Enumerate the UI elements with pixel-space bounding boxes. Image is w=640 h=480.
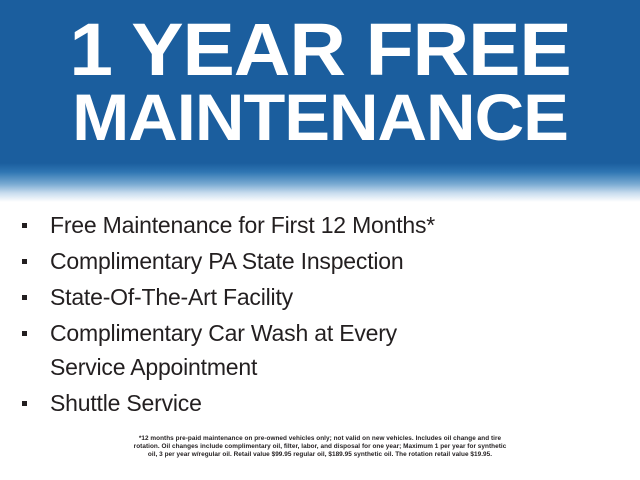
bullet-square-icon <box>22 295 27 300</box>
list-item-label: Free Maintenance for First 12 Months* <box>50 208 640 242</box>
bullet-square-icon <box>22 223 27 228</box>
list-item: State-Of-The-Art Facility <box>0 280 640 314</box>
benefits-list: Free Maintenance for First 12 Months* Co… <box>0 208 640 422</box>
bullet-square-icon <box>22 401 27 406</box>
list-item-label: Shuttle Service <box>50 386 640 420</box>
bullet-square-icon <box>22 331 27 336</box>
list-item: Complimentary Car Wash at Every Service … <box>0 316 640 384</box>
list-item-label: Complimentary PA State Inspection <box>50 244 640 278</box>
headline-banner: 1 YEAR FREE MAINTENANCE <box>0 0 640 202</box>
headline-line-2: MAINTENANCE <box>0 87 640 148</box>
list-item-label: State-Of-The-Art Facility <box>50 280 640 314</box>
list-item: Free Maintenance for First 12 Months* <box>0 208 640 242</box>
disclaimer-line-1: *12 months pre-paid maintenance on pre-o… <box>24 435 616 443</box>
list-item: Shuttle Service <box>0 386 640 420</box>
disclaimer-line-2: rotation. Oil changes include compliment… <box>24 443 616 451</box>
headline-line-1: 1 YEAR FREE <box>0 16 640 85</box>
list-item-label-continued: Service Appointment <box>50 350 640 384</box>
bullet-square-icon <box>22 259 27 264</box>
promo-ad: 1 YEAR FREE MAINTENANCE Free Maintenance… <box>0 0 640 480</box>
disclaimer: *12 months pre-paid maintenance on pre-o… <box>0 435 640 460</box>
disclaimer-line-3: oil, 3 per year w/regular oil. Retail va… <box>24 451 616 459</box>
list-item-label: Complimentary Car Wash at Every <box>50 316 640 350</box>
headline: 1 YEAR FREE MAINTENANCE <box>0 0 640 148</box>
list-item: Complimentary PA State Inspection <box>0 244 640 278</box>
